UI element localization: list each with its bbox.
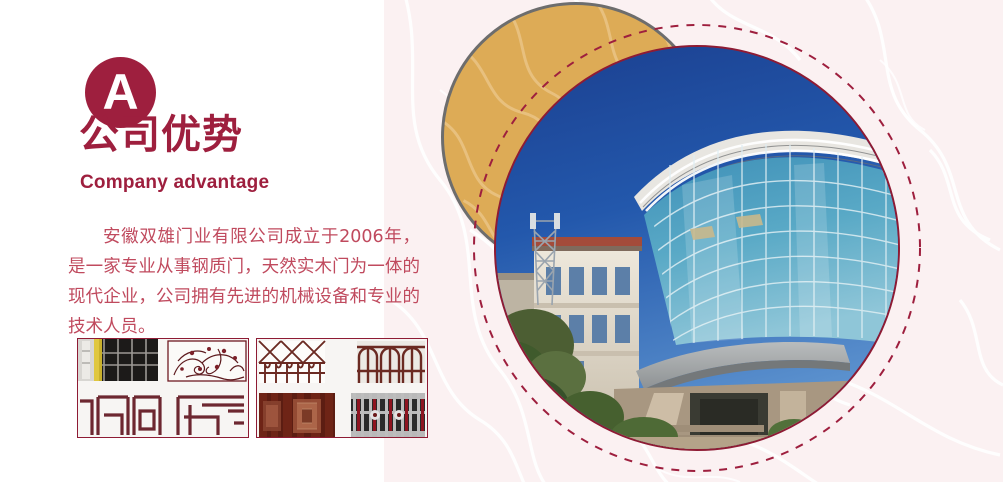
product-thumbnail-strip [77, 338, 428, 438]
company-description: 安徽双雄门业有限公司成立于2006年，是一家专业从事钢质门，天然实木门为一体的现… [68, 222, 420, 342]
company-advantage-banner: A 公司优势 Company advantage 安徽双雄门业有限公司成立于20… [0, 0, 1003, 482]
door-samples-panel-left[interactable] [77, 338, 249, 438]
page-subtitle: Company advantage [80, 172, 269, 194]
company-building-photo [494, 45, 900, 451]
page-title: 公司优势 [79, 112, 243, 158]
left-content-column: A 公司优势 Company advantage 安徽双雄门业有限公司成立于20… [0, 0, 384, 482]
door-samples-panel-right[interactable] [256, 338, 428, 438]
